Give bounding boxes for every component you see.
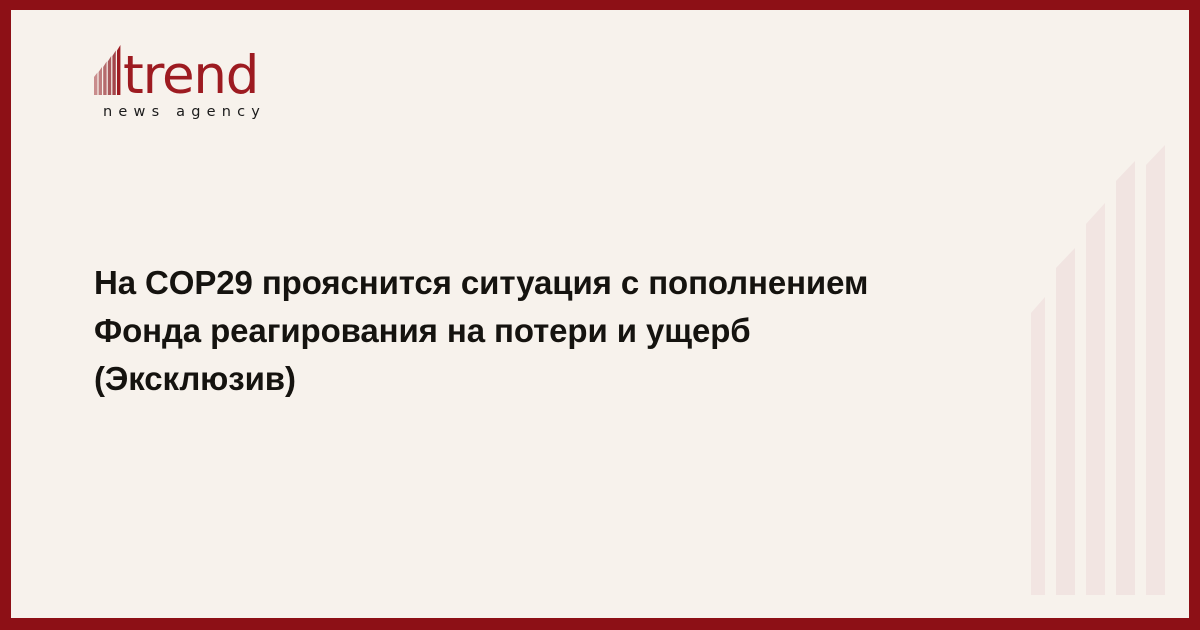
logo-wordmark: trend: [123, 49, 258, 102]
site-logo[interactable]: trend news agency: [94, 42, 394, 120]
trend-ascending-bars-mark: [94, 39, 124, 100]
logo-mark-row: trend: [94, 42, 394, 100]
logo-tagline: news agency: [103, 104, 394, 120]
decor-bar-5: [1146, 145, 1165, 595]
decor-bar-3: [1086, 203, 1105, 595]
article-headline: На COP29 прояснится ситуация с пополнени…: [94, 259, 974, 403]
social-share-card: trend news agency На COP29 прояснится си…: [0, 0, 1200, 630]
decor-bar-4: [1116, 161, 1135, 595]
decor-bar-1: [1031, 297, 1045, 595]
card-canvas: trend news agency На COP29 прояснится си…: [11, 10, 1189, 618]
decor-bar-2: [1056, 248, 1075, 595]
ascending-bars-graphic: [1031, 145, 1177, 595]
